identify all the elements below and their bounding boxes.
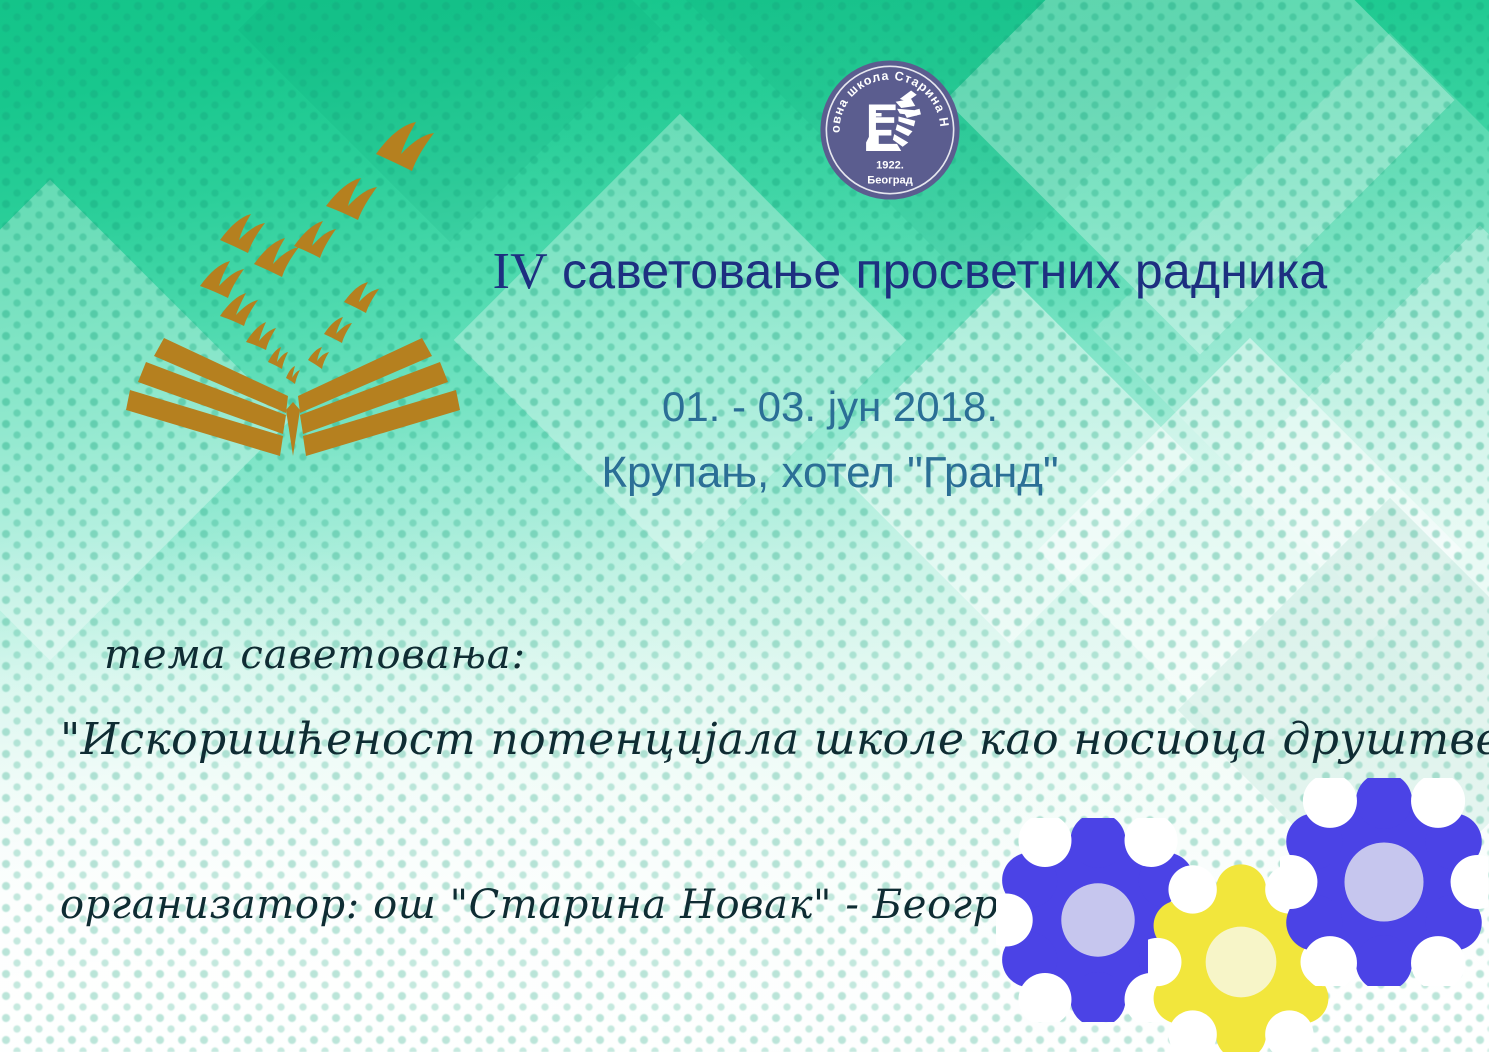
event-details: 01. - 03. јун 2018. Крупањ, хотел "Гранд… <box>430 374 1230 507</box>
theme-text: "Искоришћеност потенцијала школе као нос… <box>60 714 1430 765</box>
title-roman-numeral: IV <box>493 243 548 300</box>
title-text: саветовање просветних радника <box>562 243 1327 299</box>
open-book-with-birds-icon <box>108 110 478 480</box>
gear-blue-right-icon <box>1280 778 1488 986</box>
page-title: IV саветовање просветних радника <box>430 243 1390 300</box>
seal-year: 1922. <box>876 159 904 171</box>
poster-canvas: Основна школа Старина Новак 1922. Београ… <box>0 0 1489 1052</box>
organizer-text: организатор: ош "Старина Новак" - Београ… <box>60 882 1020 928</box>
seal-city: Београд <box>867 174 913 186</box>
theme-label: тема саветовања: <box>104 632 526 678</box>
event-date: 01. - 03. јун 2018. <box>430 374 1230 439</box>
event-venue: Крупањ, хотел "Гранд" <box>430 439 1230 507</box>
school-seal-logo: Основна школа Старина Новак 1922. Београ… <box>816 56 964 204</box>
